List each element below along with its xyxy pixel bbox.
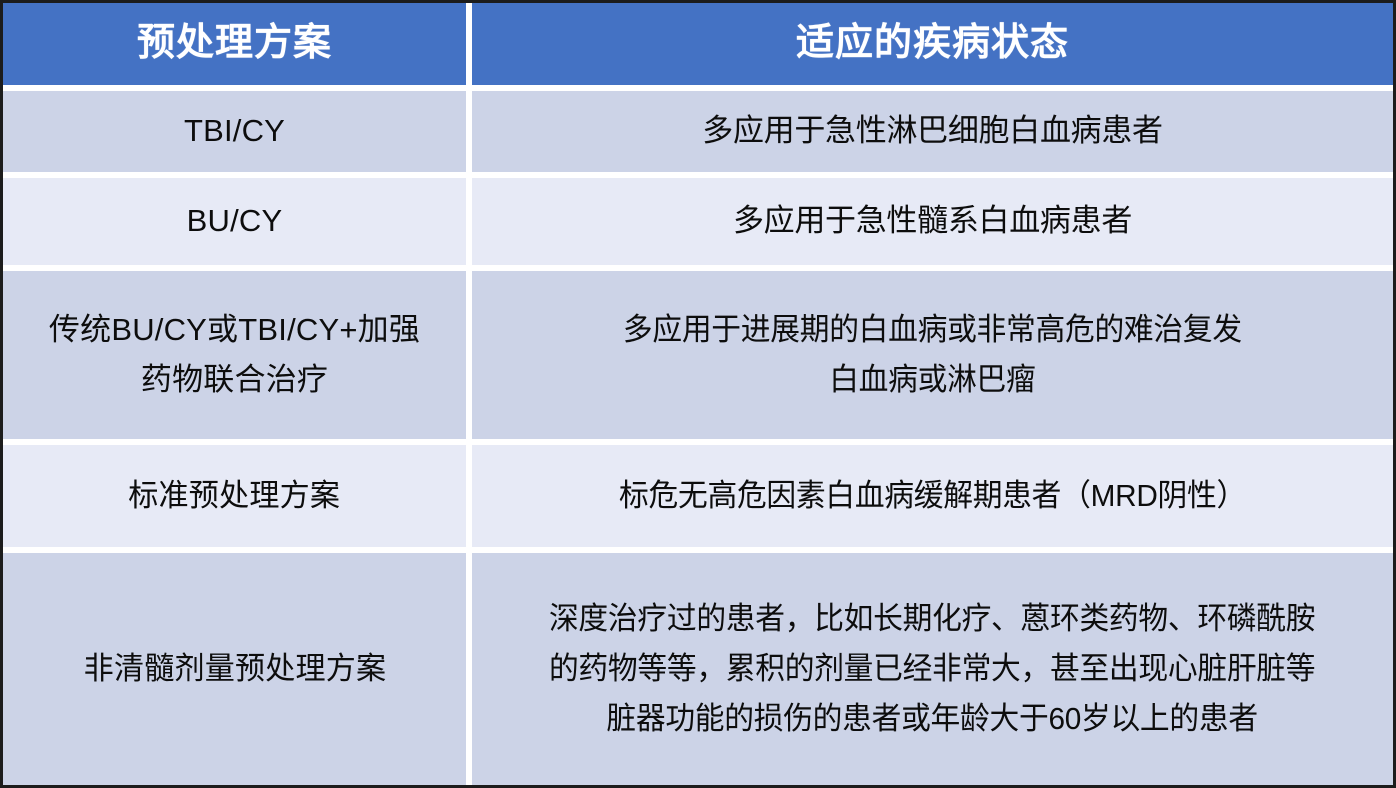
table-body: TBI/CY 多应用于急性淋巴细胞白血病患者 BU/CY 多应用于急性髓系白血病… [3,85,1393,785]
column-header-indication: 适应的疾病状态 [472,3,1393,85]
cell-regimen: 非清髓剂量预处理方案 [3,553,466,785]
cell-indication-text: 多应用于急性淋巴细胞白血病患者 [702,106,1163,156]
table-header-row: 预处理方案 适应的疾病状态 [3,3,1393,85]
cell-indication: 多应用于急性淋巴细胞白血病患者 [472,91,1393,172]
cell-regimen: 传统BU/CY或TBI/CY+加强 药物联合治疗 [3,271,466,439]
cell-regimen: 标准预处理方案 [3,445,466,547]
cell-indication: 多应用于进展期的白血病或非常高危的难治复发 白血病或淋巴瘤 [472,271,1393,439]
cell-regimen: BU/CY [3,178,466,265]
cell-regimen-text: 标准预处理方案 [129,471,341,521]
table-row: TBI/CY 多应用于急性淋巴细胞白血病患者 [3,85,1393,172]
table-row: BU/CY 多应用于急性髓系白血病患者 [3,172,1393,265]
column-header-regimen: 预处理方案 [3,3,466,85]
cell-regimen-text: 非清髓剂量预处理方案 [83,644,386,694]
cell-indication-text: 标危无高危因素白血病缓解期患者（MRD阴性） [619,471,1246,521]
cell-indication: 深度治疗过的患者，比如长期化疗、蒽环类药物、环磷酰胺 的药物等等，累积的剂量已经… [472,553,1393,785]
table-row: 标准预处理方案 标危无高危因素白血病缓解期患者（MRD阴性） [3,439,1393,547]
table-row: 传统BU/CY或TBI/CY+加强 药物联合治疗 多应用于进展期的白血病或非常高… [3,265,1393,439]
cell-indication-text: 深度治疗过的患者，比如长期化疗、蒽环类药物、环磷酰胺 的药物等等，累积的剂量已经… [549,594,1315,745]
cell-indication-text: 多应用于进展期的白血病或非常高危的难治复发 白血病或淋巴瘤 [623,305,1242,405]
cell-indication: 多应用于急性髓系白血病患者 [472,178,1393,265]
cell-indication: 标危无高危因素白血病缓解期患者（MRD阴性） [472,445,1393,547]
cell-regimen-text: TBI/CY [184,106,285,156]
cell-regimen-text: BU/CY [187,196,283,246]
cell-regimen: TBI/CY [3,91,466,172]
regimen-indication-table: 预处理方案 适应的疾病状态 TBI/CY 多应用于急性淋巴细胞白血病患者 BU/… [0,0,1396,788]
cell-regimen-text: 传统BU/CY或TBI/CY+加强 药物联合治疗 [49,305,420,405]
table-row: 非清髓剂量预处理方案 深度治疗过的患者，比如长期化疗、蒽环类药物、环磷酰胺 的药… [3,547,1393,785]
cell-indication-text: 多应用于急性髓系白血病患者 [733,196,1132,246]
